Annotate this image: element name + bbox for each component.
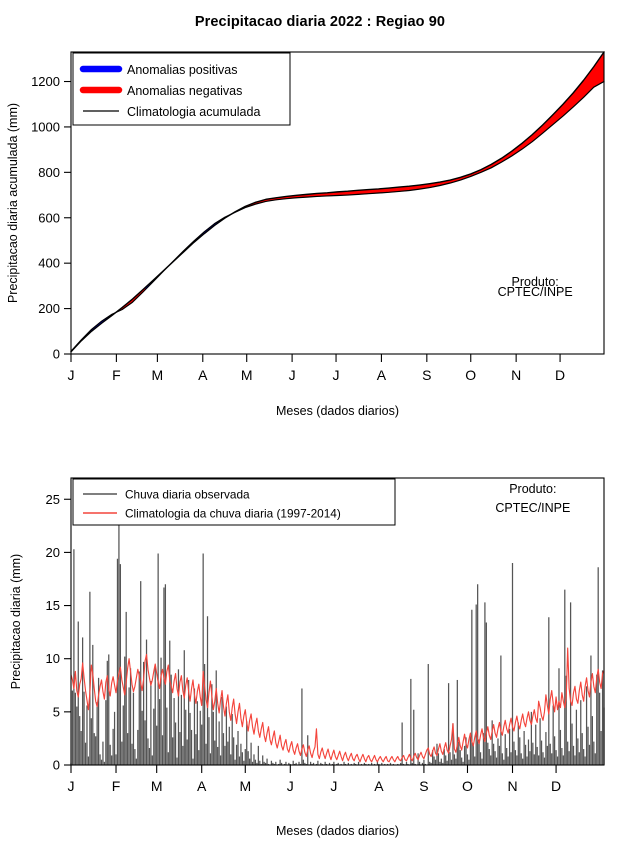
y-tick-label: 600 bbox=[38, 210, 60, 225]
accumulated-precipitation-panel: Precipitacao diaria 2022 : Regiao 90 020… bbox=[0, 0, 640, 430]
x-tick-label-F-1: F bbox=[112, 367, 121, 383]
x-tick-label-A-7: A bbox=[377, 367, 387, 383]
x-tick-label-S-8: S bbox=[422, 367, 431, 383]
x-tick-label-M-4: M bbox=[239, 778, 251, 794]
legend: Chuva diaria observadaClimatologia da ch… bbox=[73, 479, 395, 525]
legend-label-1: Climatologia da chuva diaria (1997-2014) bbox=[125, 507, 341, 521]
y-tick-label: 15 bbox=[46, 598, 60, 613]
legend: Anomalias positivasAnomalias negativasCl… bbox=[73, 53, 290, 125]
x-tick-label-S-8: S bbox=[419, 778, 428, 794]
x-tick-label-M-4: M bbox=[241, 367, 253, 383]
x-tick-label-J-0: J bbox=[68, 778, 75, 794]
accumulated-precipitation-chart: 020040060080010001200Precipitacao diaria… bbox=[0, 0, 640, 430]
x-tick-label-M-2: M bbox=[152, 367, 164, 383]
y-tick-label: 200 bbox=[38, 301, 60, 316]
y-tick-label: 10 bbox=[46, 651, 60, 666]
x-tick-label-J-5: J bbox=[287, 778, 294, 794]
x-tick-label-D-11: D bbox=[551, 778, 561, 794]
y-axis-label: Precipitacao diaria acumulada (mm) bbox=[6, 103, 20, 303]
x-tick-label-O-9: O bbox=[462, 778, 473, 794]
x-tick-label-N-10: N bbox=[511, 367, 521, 383]
legend-label-1: Anomalias negativas bbox=[127, 84, 242, 98]
legend-label-0: Anomalias positivas bbox=[127, 63, 237, 77]
x-tick-label-A-3: A bbox=[197, 778, 207, 794]
y-tick-label: 1200 bbox=[31, 74, 60, 89]
x-tick-label-F-1: F bbox=[112, 778, 121, 794]
x-axis-label: Meses (dados diarios) bbox=[276, 404, 399, 418]
x-tick-label-J-5: J bbox=[289, 367, 296, 383]
anomaly-band-positive bbox=[146, 206, 246, 289]
observed-bars bbox=[71, 516, 604, 765]
y-tick-label: 25 bbox=[46, 492, 60, 507]
y-tick-label: 800 bbox=[38, 165, 60, 180]
x-tick-label-J-0: J bbox=[68, 367, 75, 383]
y-tick-label: 20 bbox=[46, 545, 60, 560]
y-tick-label: 5 bbox=[53, 704, 60, 719]
credit-line-1: Produto: bbox=[509, 482, 556, 496]
legend-label-0: Chuva diaria observada bbox=[125, 488, 250, 502]
x-tick-label-N-10: N bbox=[507, 778, 517, 794]
x-tick-label-D-11: D bbox=[555, 367, 565, 383]
y-axis-label: Precipitacao diaria (mm) bbox=[9, 554, 23, 689]
credit-annotation: Produto:CPTEC/INPE bbox=[498, 275, 573, 299]
y-tick-label: 0 bbox=[53, 347, 60, 362]
x-tick-label-J-6: J bbox=[333, 367, 340, 383]
x-axis: JFMAMJJASOND bbox=[68, 765, 562, 794]
credit-annotation: Produto:CPTEC/INPE bbox=[495, 482, 570, 515]
x-tick-label-A-7: A bbox=[374, 778, 384, 794]
x-tick-label-J-6: J bbox=[330, 778, 337, 794]
daily-precipitation-panel: 0510152025Precipitacao diaria (mm)JFMAMJ… bbox=[0, 430, 640, 850]
y-axis: 0510152025 bbox=[46, 492, 71, 773]
x-axis-label: Meses (dados diarios) bbox=[276, 824, 399, 838]
legend-label-2: Climatologia acumulada bbox=[127, 105, 260, 119]
y-tick-label: 400 bbox=[38, 256, 60, 271]
y-tick-label: 0 bbox=[53, 758, 60, 773]
plot-area bbox=[71, 516, 604, 765]
x-tick-label-M-2: M bbox=[151, 778, 163, 794]
x-axis: JFMAMJJASOND bbox=[68, 354, 566, 383]
credit-line-2: CPTEC/INPE bbox=[498, 285, 573, 299]
y-axis: 020040060080010001200 bbox=[31, 74, 71, 361]
y-tick-label: 1000 bbox=[31, 119, 60, 134]
daily-precipitation-chart: 0510152025Precipitacao diaria (mm)JFMAMJ… bbox=[0, 430, 640, 850]
x-tick-label-O-9: O bbox=[465, 367, 476, 383]
x-tick-label-A-3: A bbox=[198, 367, 208, 383]
credit-line-2: CPTEC/INPE bbox=[495, 501, 570, 515]
